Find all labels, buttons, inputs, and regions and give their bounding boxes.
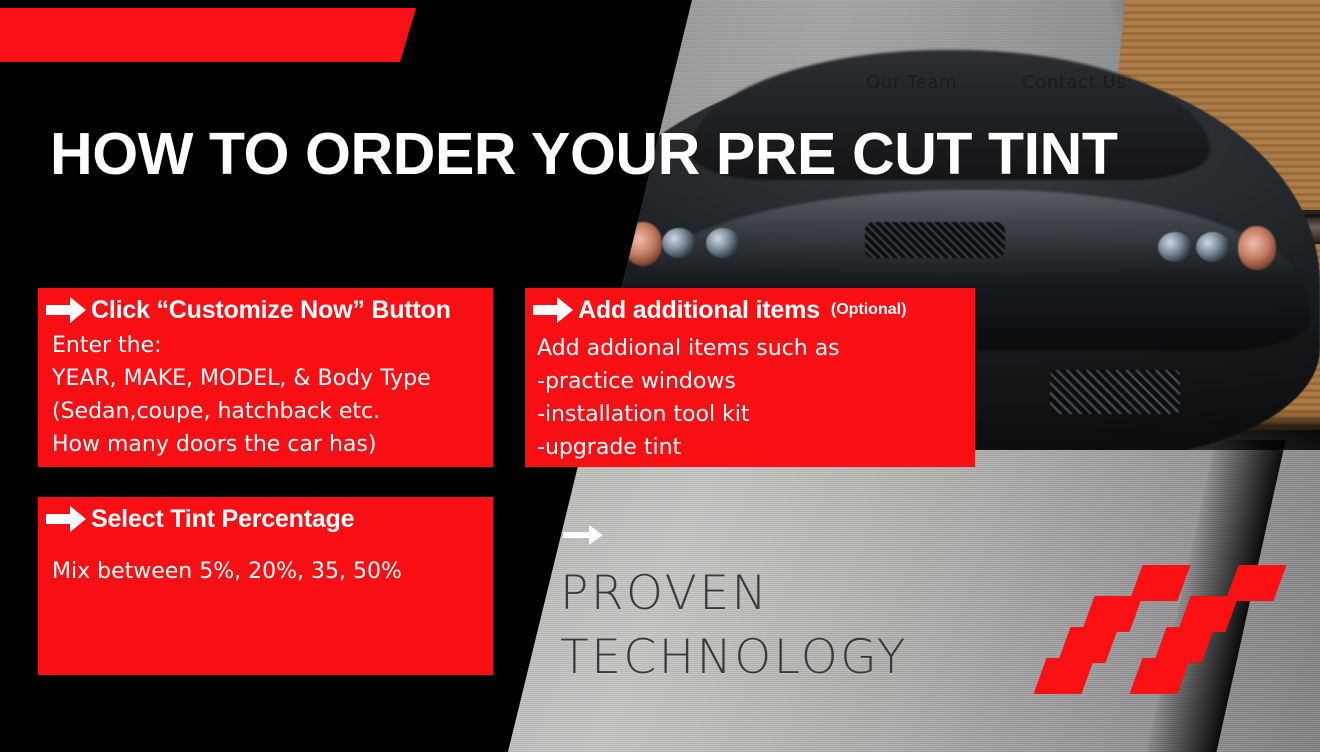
plate-brand-text: PROVEN TECHNOLOGY	[560, 562, 908, 690]
card-body: Mix between 5%, 20%, 35, 50%	[38, 535, 493, 588]
car-headlight-right-outer	[1196, 232, 1230, 262]
top-red-banner	[0, 8, 416, 62]
car-lower-grille	[1050, 370, 1180, 414]
card-header: Select Tint Percentage	[38, 497, 493, 535]
card-title: Add additional items	[578, 296, 820, 325]
car-turnsignal-left	[624, 222, 662, 266]
card-optional-note: (Optional)	[831, 301, 907, 319]
card-body: Add addional items such as -practice win…	[525, 326, 975, 464]
card-header: Add additional items (Optional)	[525, 288, 975, 326]
arrow-right-icon	[44, 294, 88, 326]
arrow-right-icon	[531, 294, 575, 326]
car-headlight-left-outer	[706, 228, 740, 258]
arrow-right-icon	[563, 522, 603, 548]
card-title: Select Tint Percentage	[91, 505, 354, 534]
car-turnsignal-right	[1238, 226, 1276, 270]
arrow-right-icon	[44, 503, 88, 535]
nav-link-our-team[interactable]: Our Team	[866, 72, 957, 93]
card-click-customize-now[interactable]: Click “Customize Now” Button Enter the: …	[38, 288, 493, 467]
car-hood-vent	[865, 222, 1005, 258]
car-headlight-left-inner	[662, 228, 696, 258]
checkered-flag-icon	[1112, 565, 1272, 690]
card-header: Click “Customize Now” Button	[38, 288, 493, 326]
card-body: Enter the: YEAR, MAKE, MODEL, & Body Typ…	[38, 326, 493, 461]
card-title: Click “Customize Now” Button	[91, 296, 451, 325]
car-headlight-right-inner	[1158, 232, 1192, 262]
card-add-additional-items[interactable]: Add additional items (Optional) Add addi…	[525, 288, 975, 467]
slide-canvas: PROVEN TECHNOLOGY HOW TO ORDER YOUR PRE …	[0, 0, 1320, 752]
card-select-tint-percentage[interactable]: Select Tint Percentage Mix between 5%, 2…	[38, 497, 493, 675]
nav-link-contact-us[interactable]: Contact Us	[1022, 72, 1126, 93]
page-title: HOW TO ORDER YOUR PRE CUT TINT	[50, 120, 1118, 188]
